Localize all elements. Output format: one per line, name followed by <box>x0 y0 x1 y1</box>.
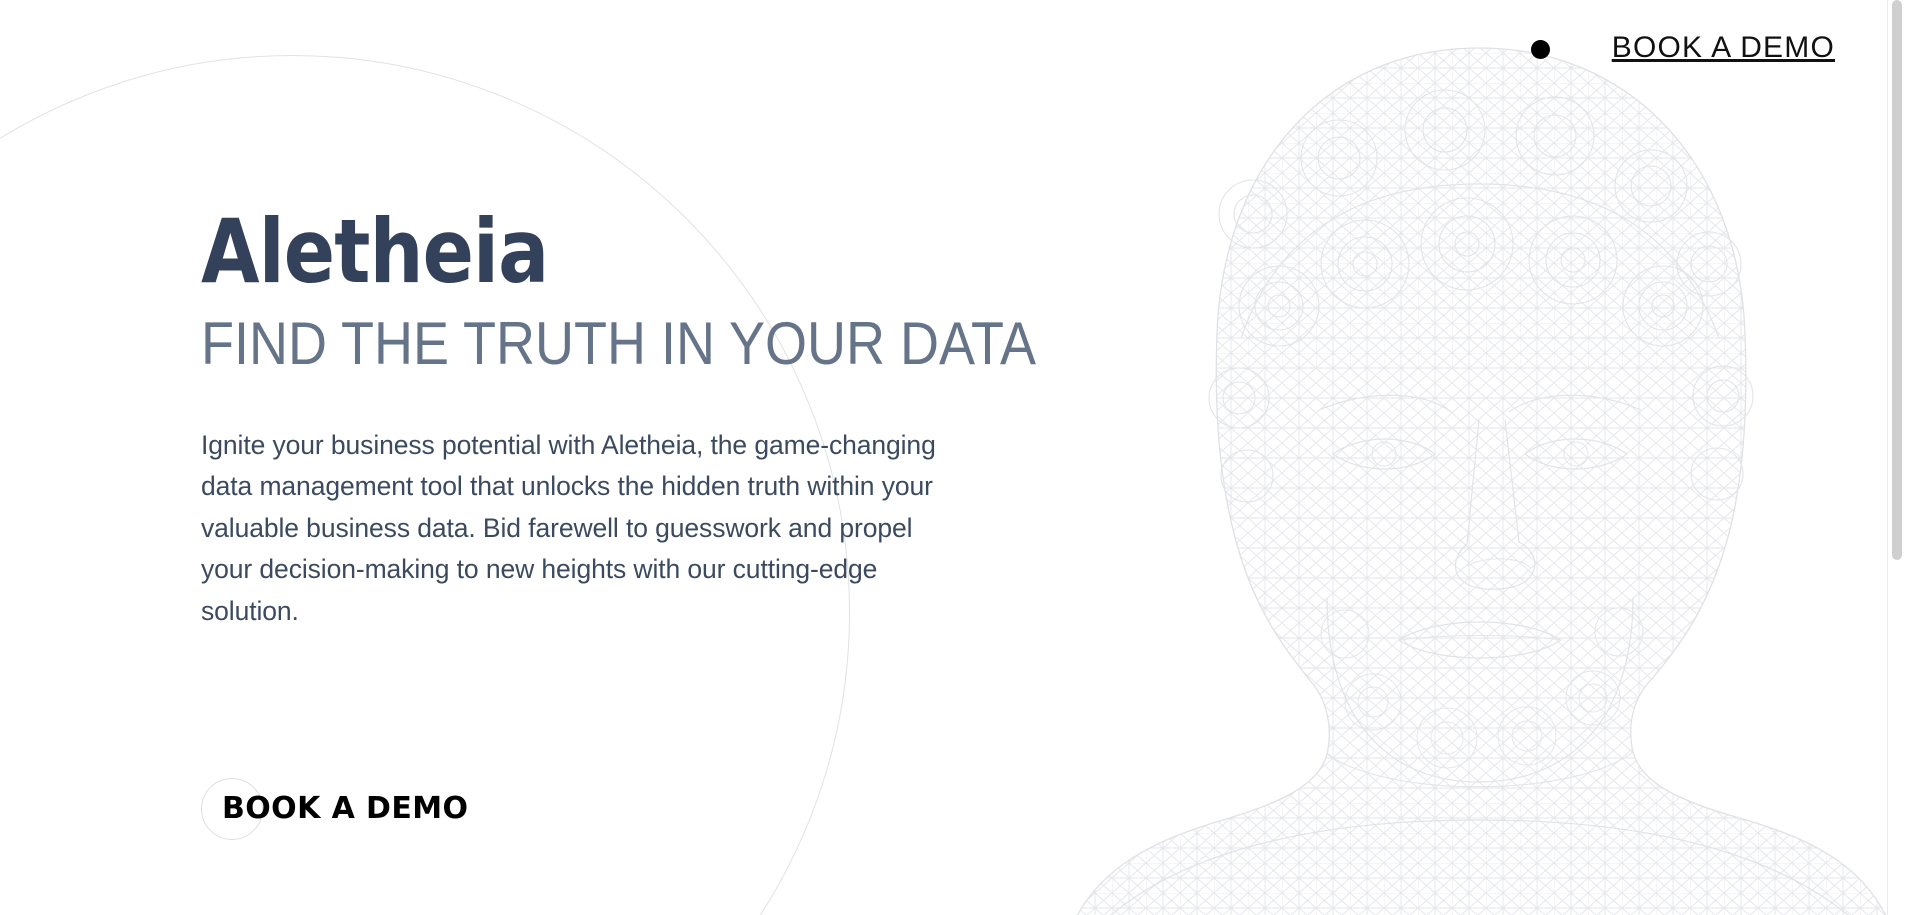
hero-content: Aletheia FIND THE TRUTH IN YOUR DATA Ign… <box>201 210 981 632</box>
wireframe-bust-statue-icon <box>1007 0 1887 915</box>
book-a-demo-button[interactable]: BOOK A DEMO <box>201 778 468 840</box>
vertical-scrollbar[interactable] <box>1887 0 1905 915</box>
bullet-dot-icon <box>1531 40 1550 59</box>
top-navigation: BOOK A DEMO <box>1531 0 1887 96</box>
book-a-demo-button-label: BOOK A DEMO <box>222 794 468 824</box>
page-title: Aletheia <box>201 210 872 294</box>
nav-book-a-demo-link[interactable]: BOOK A DEMO <box>1612 33 1835 63</box>
hero-page: BOOK A DEMO Aletheia FIND THE TRUTH IN Y… <box>0 0 1905 915</box>
hero-description: Ignite your business potential with Alet… <box>201 425 966 633</box>
scrollbar-thumb[interactable] <box>1892 0 1902 560</box>
hero-subtitle: FIND THE TRUTH IN YOUR DATA <box>201 312 903 375</box>
